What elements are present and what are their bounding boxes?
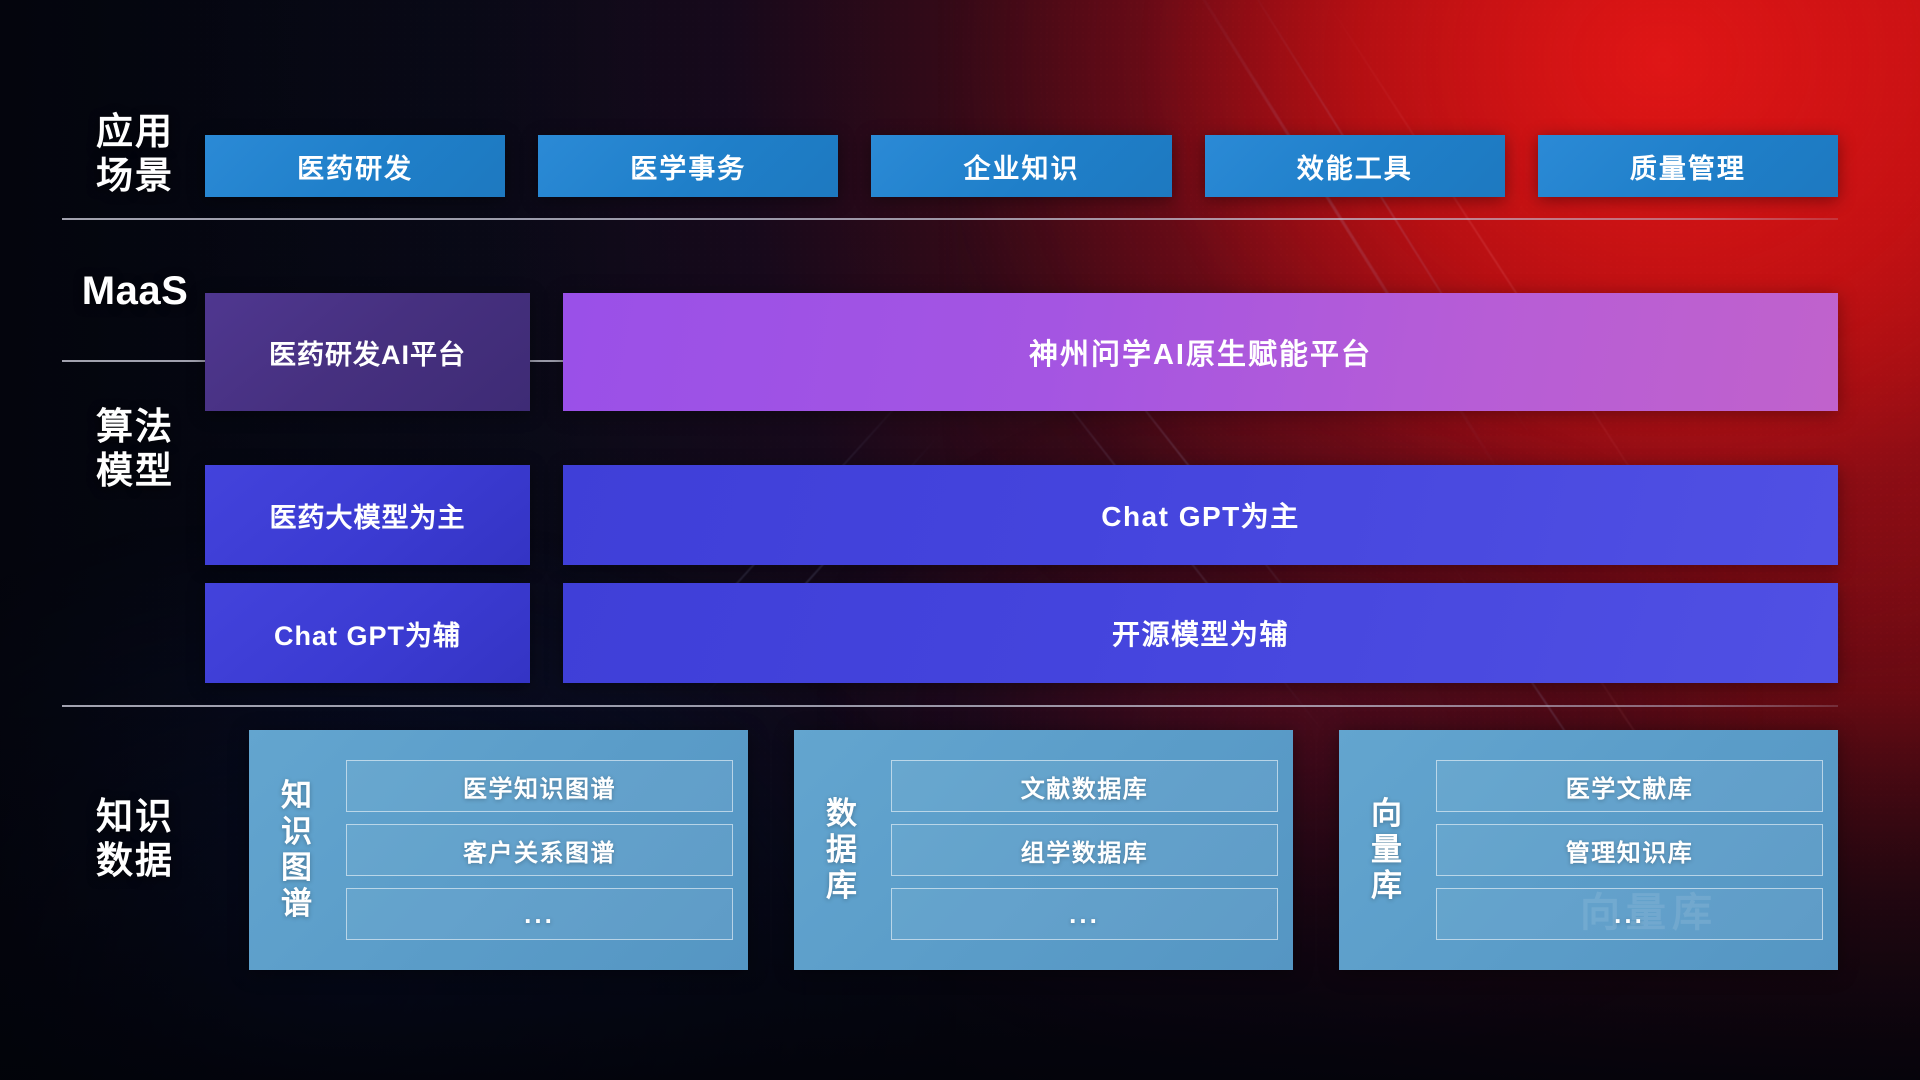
row-label-line: MaaS	[60, 268, 210, 315]
knowledge-item-omics-database[interactable]: 组学数据库	[891, 824, 1278, 876]
algo-box-chatgpt-primary[interactable]: Chat GPT为主	[563, 465, 1838, 565]
algo-box-pharma-large-model-primary[interactable]: 医药大模型为主	[205, 465, 530, 565]
knowledge-item-customer-relation-graph[interactable]: 客户关系图谱	[346, 824, 733, 876]
maas-box-shenzhou-wenxue-platform[interactable]: 神州问学AI原生赋能平台	[563, 293, 1838, 411]
knowledge-item-literature-database[interactable]: 文献数据库	[891, 760, 1278, 812]
row-label-maas: MaaS	[60, 268, 210, 315]
knowledge-group-title-char: 向	[1352, 796, 1422, 832]
algorithm-row-secondary: Chat GPT为辅 开源模型为辅	[205, 583, 1838, 683]
knowledge-item-management-knowledge-store[interactable]: 管理知识库	[1436, 824, 1823, 876]
maas-box-pharma-ai-platform[interactable]: 医药研发AI平台	[205, 293, 530, 411]
maas-row: 医药研发AI平台 神州问学AI原生赋能平台	[205, 293, 1838, 411]
knowledge-group-items: 医学文献库 管理知识库 ...	[1422, 760, 1823, 940]
knowledge-group-title-char: 识	[262, 814, 332, 850]
row-label-application-scenarios: 应用 场景	[60, 110, 210, 197]
knowledge-group-title-char: 量	[1352, 832, 1422, 868]
knowledge-item-medical-literature-store[interactable]: 医学文献库	[1436, 760, 1823, 812]
knowledge-group-title-char: 图	[262, 850, 332, 886]
knowledge-group-items: 医学知识图谱 客户关系图谱 ...	[332, 760, 733, 940]
knowledge-group-knowledge-graph: 知 识 图 谱 医学知识图谱 客户关系图谱 ...	[249, 730, 748, 970]
algo-box-opensource-model-secondary[interactable]: 开源模型为辅	[563, 583, 1838, 683]
knowledge-group-title: 数 据 库	[807, 796, 877, 904]
knowledge-item-more[interactable]: ...	[1436, 888, 1823, 940]
app-box-enterprise-knowledge[interactable]: 企业知识	[871, 135, 1171, 197]
knowledge-item-medical-knowledge-graph[interactable]: 医学知识图谱	[346, 760, 733, 812]
row-label-line: 应用	[60, 110, 210, 154]
knowledge-item-more[interactable]: ...	[891, 888, 1278, 940]
knowledge-group-title-char: 数	[807, 796, 877, 832]
row-label-algorithm-model: 算法 模型	[60, 405, 210, 492]
app-box-efficiency-tools[interactable]: 效能工具	[1205, 135, 1505, 197]
row-label-line: 知识	[60, 795, 210, 839]
row-divider-1	[62, 218, 1838, 220]
knowledge-group-title-char: 谱	[262, 886, 332, 922]
row-label-line: 数据	[60, 839, 210, 883]
knowledge-item-more[interactable]: ...	[346, 888, 733, 940]
knowledge-group-database: 数 据 库 文献数据库 组学数据库 ...	[794, 730, 1293, 970]
architecture-diagram: 应用 场景 医药研发 医学事务 企业知识 效能工具 质量管理 MaaS 医药研发…	[0, 0, 1920, 1080]
algo-box-chatgpt-secondary[interactable]: Chat GPT为辅	[205, 583, 530, 683]
knowledge-group-title-char: 库	[1352, 868, 1422, 904]
knowledge-group-vector-store: 向 量 库 医学文献库 管理知识库 ...	[1339, 730, 1838, 970]
row-label-line: 算法	[60, 405, 210, 449]
knowledge-data-row: 知 识 图 谱 医学知识图谱 客户关系图谱 ... 数 据 库	[249, 730, 1838, 970]
app-box-quality-management[interactable]: 质量管理	[1538, 135, 1838, 197]
slide-canvas: 应用 场景 医药研发 医学事务 企业知识 效能工具 质量管理 MaaS 医药研发…	[0, 0, 1920, 1080]
app-box-medicine-rd[interactable]: 医药研发	[205, 135, 505, 197]
knowledge-group-title-char: 库	[807, 868, 877, 904]
knowledge-group-items: 文献数据库 组学数据库 ...	[877, 760, 1278, 940]
knowledge-group-title: 向 量 库	[1352, 796, 1422, 904]
knowledge-group-title-char: 知	[262, 778, 332, 814]
row-divider-3	[62, 705, 1838, 707]
application-scenarios-row: 医药研发 医学事务 企业知识 效能工具 质量管理	[205, 135, 1838, 197]
row-label-line: 模型	[60, 449, 210, 493]
knowledge-group-title: 知 识 图 谱	[262, 778, 332, 922]
app-box-medical-affairs[interactable]: 医学事务	[538, 135, 838, 197]
knowledge-group-title-char: 据	[807, 832, 877, 868]
row-label-line: 场景	[60, 154, 210, 198]
algorithm-row-primary: 医药大模型为主 Chat GPT为主	[205, 465, 1838, 565]
row-label-knowledge-data: 知识 数据	[60, 795, 210, 882]
